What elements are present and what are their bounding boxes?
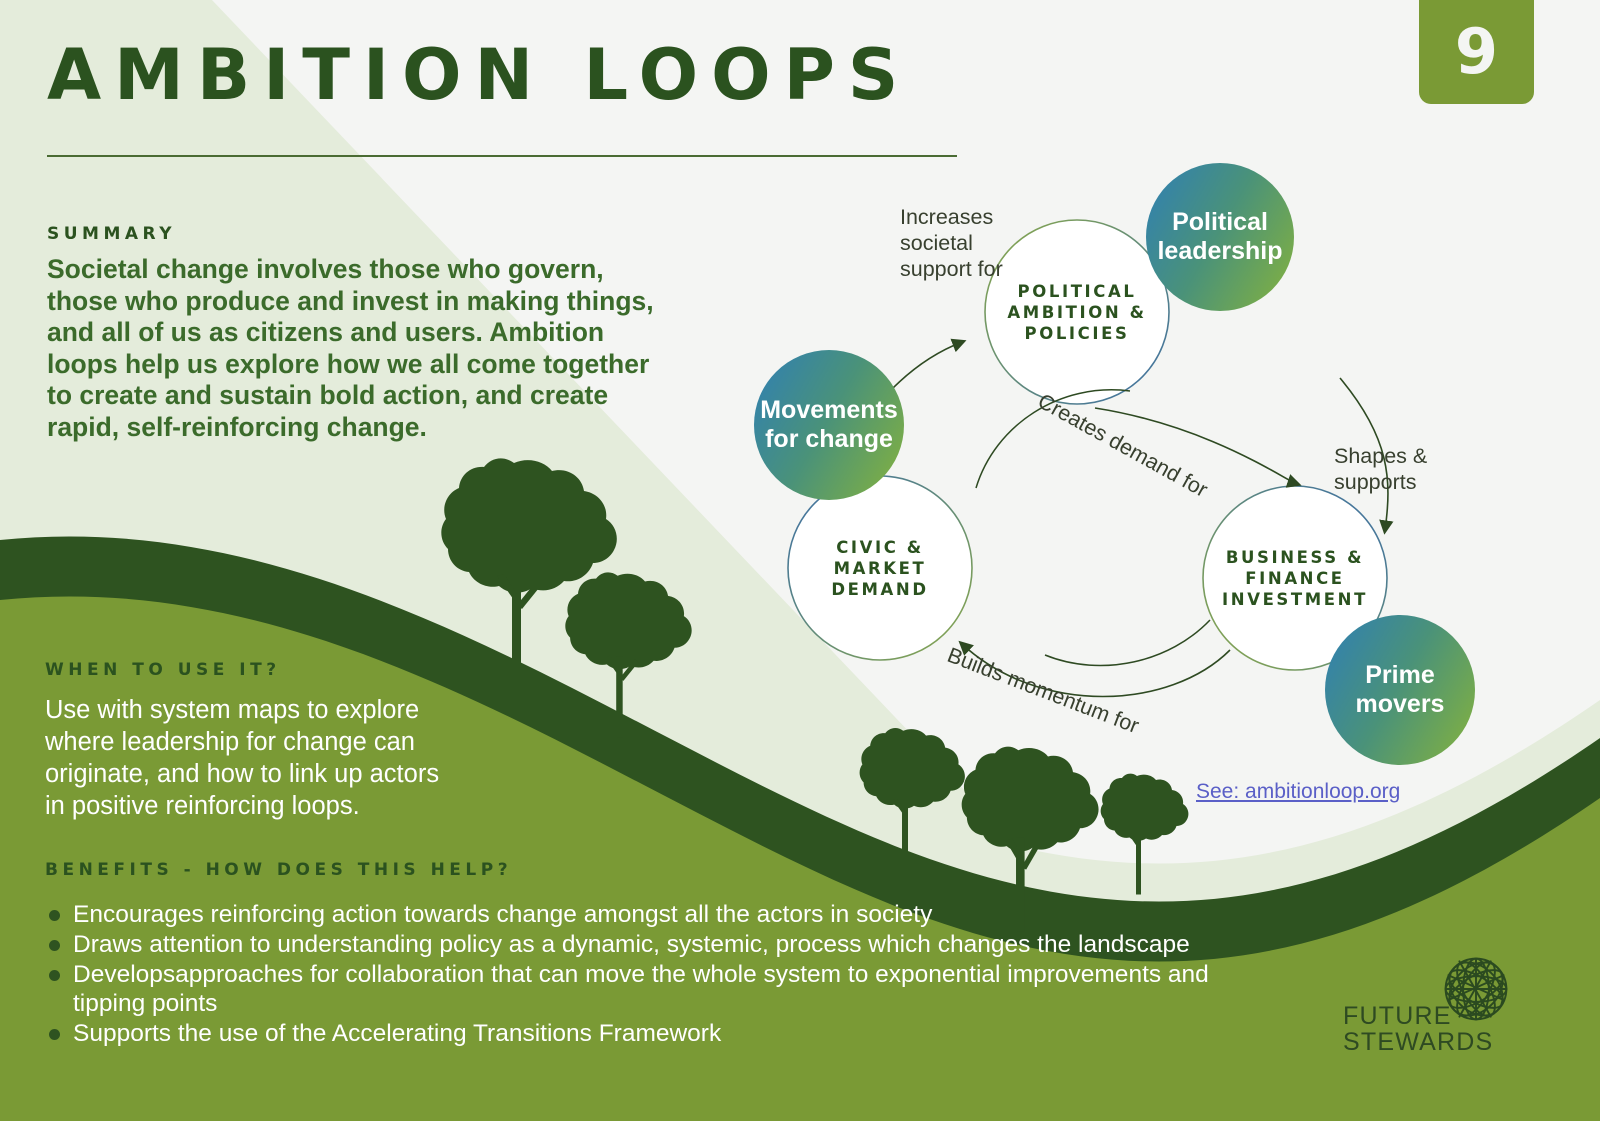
arrow-label-increases-societal-support: Increases societal support for <box>900 204 1010 282</box>
bubble-political-leadership-label: Political leadership <box>1146 208 1294 266</box>
ambitionloop-link[interactable]: See: ambitionloop.org <box>1196 780 1400 804</box>
node-business-finance-investment-label: BUSINESS & FINANCE INVESTMENT <box>1203 547 1387 610</box>
benefits-heading: BENEFITS - HOW DOES THIS HELP? <box>45 860 512 880</box>
arrow-label-shapes-supports: Shapes & supports <box>1334 443 1446 495</box>
future-stewards-wordmark: FUTURE STEWARDS <box>1343 1003 1493 1055</box>
bubble-prime-movers-label: Prime movers <box>1325 661 1475 719</box>
bubble-movements-for-change[interactable]: Movements for change <box>754 350 904 500</box>
list-item: Encourages reinforcing action towards ch… <box>45 900 1285 929</box>
logo-line-2: STEWARDS <box>1343 1029 1493 1055</box>
benefits-list: Encourages reinforcing action towards ch… <box>45 900 1285 1049</box>
page-number: 9 <box>1455 15 1498 83</box>
bubble-movements-for-change-label: Movements for change <box>754 396 904 454</box>
page-number-badge: 9 <box>1419 0 1534 104</box>
when-to-use-heading: WHEN TO USE IT? <box>45 660 281 680</box>
ambition-loop-diagram: POLITICAL AMBITION & POLICIES CIVIC & MA… <box>740 150 1560 830</box>
bubble-prime-movers[interactable]: Prime movers <box>1325 615 1475 765</box>
bubble-political-leadership[interactable]: Political leadership <box>1146 163 1294 311</box>
logo-line-1: FUTURE <box>1343 1003 1493 1029</box>
slide-canvas: 9 AMBITION LOOPS SUMMARY Societal change… <box>0 0 1600 1121</box>
list-item: Developsapproaches for collaboration tha… <box>45 960 1285 1018</box>
node-political-ambition-label: POLITICAL AMBITION & POLICIES <box>985 281 1169 344</box>
page-title: AMBITION LOOPS <box>47 40 911 110</box>
future-stewards-logo: FUTURE STEWARDS <box>1343 955 1523 1060</box>
node-political-ambition[interactable]: POLITICAL AMBITION & POLICIES <box>985 220 1169 404</box>
list-item: Supports the use of the Accelerating Tra… <box>45 1019 1285 1048</box>
node-civic-market-demand[interactable]: CIVIC & MARKET DEMAND <box>788 476 972 660</box>
summary-heading: SUMMARY <box>47 224 176 244</box>
list-item: Draws attention to understanding policy … <box>45 930 1285 959</box>
summary-body: Societal change involves those who gover… <box>47 254 667 443</box>
when-to-use-body: Use with system maps to explore where le… <box>45 694 465 822</box>
node-civic-market-demand-label: CIVIC & MARKET DEMAND <box>788 537 972 600</box>
